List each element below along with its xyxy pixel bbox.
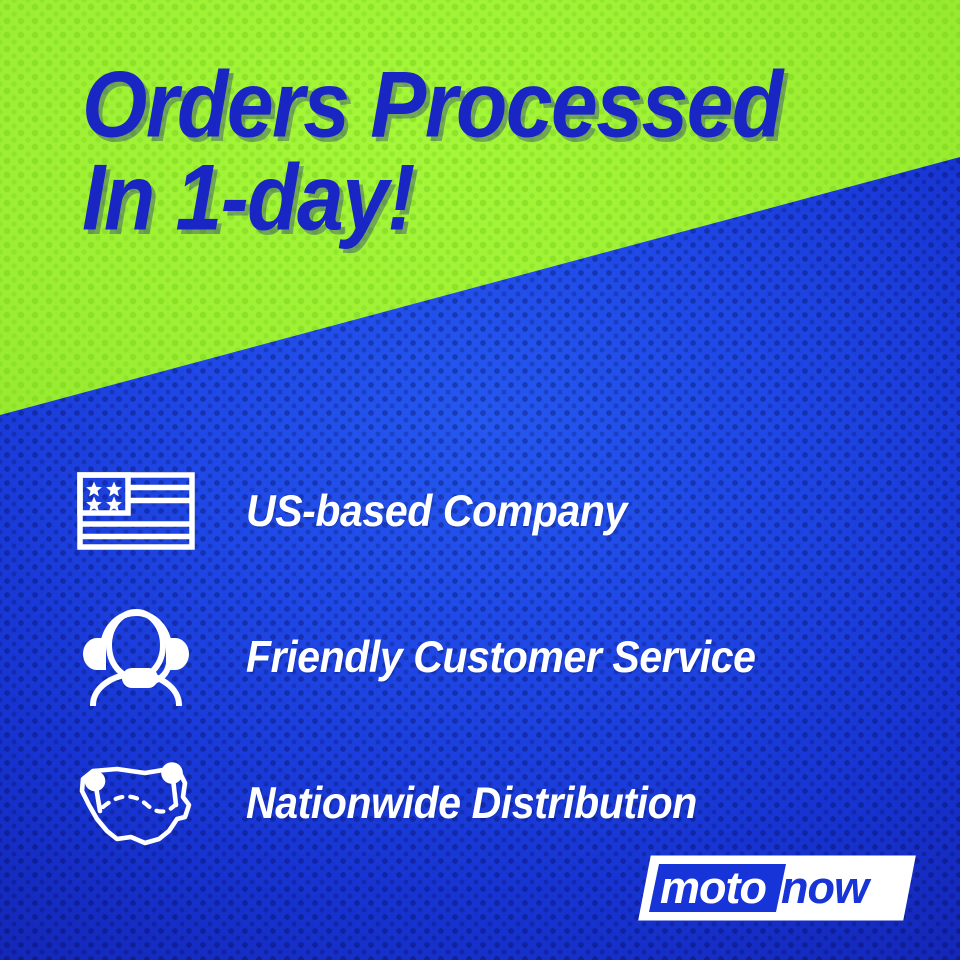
us-flag-icon (72, 472, 200, 550)
feature-item-us-based: US-based Company (72, 438, 902, 584)
promo-banner: Orders Processed In 1-day! (0, 0, 960, 960)
feature-label: Friendly Customer Service (246, 632, 756, 683)
us-map-route-pins-icon (72, 757, 200, 849)
feature-label: Nationwide Distribution (246, 778, 697, 829)
headset-support-agent-icon (72, 608, 200, 706)
motonow-logo: moto now (638, 855, 916, 921)
feature-item-customer-service: Friendly Customer Service (72, 584, 902, 730)
feature-label: US-based Company (246, 486, 627, 537)
headline: Orders Processed In 1-day! (82, 58, 942, 244)
logo-text-moto: moto (660, 862, 766, 913)
feature-list: US-based Company (72, 438, 902, 876)
logo-text-now: now (781, 862, 872, 913)
